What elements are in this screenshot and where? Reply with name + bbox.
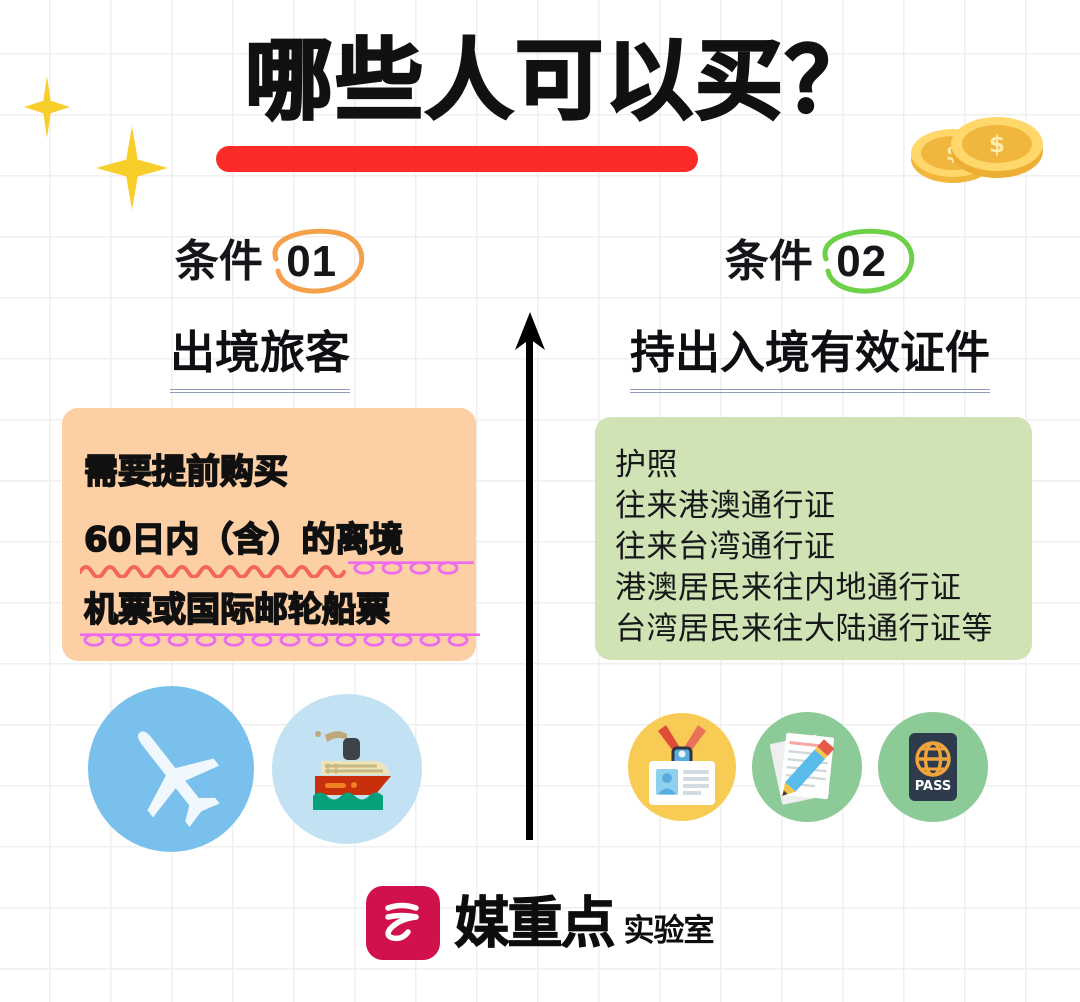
sparkle-icon bbox=[96, 126, 168, 210]
purple-loop-underline bbox=[348, 560, 474, 576]
condition-number: 01 bbox=[278, 237, 345, 286]
brand-name: 媒重点 bbox=[454, 896, 613, 951]
cruise-ship-icon bbox=[272, 694, 422, 844]
condition-heading-text: 出境旅客 bbox=[170, 316, 350, 393]
condition-heading-01: 出境旅客 bbox=[0, 316, 520, 393]
page-title: 哪些人可以买？ bbox=[205, 36, 875, 126]
condition-label-01: 条件 01 bbox=[0, 232, 520, 296]
icon-row-02: PASS bbox=[628, 712, 988, 822]
box-line: 机票或国际邮轮船票 bbox=[84, 582, 390, 631]
condition-label-02: 条件 02 bbox=[540, 232, 1080, 296]
passport-icon: PASS bbox=[878, 712, 988, 822]
up-arrow-divider bbox=[512, 312, 548, 840]
logo-mark-icon bbox=[366, 886, 440, 960]
condition-column-02: 条件 02 持出入境有效证件 bbox=[540, 232, 1080, 393]
poster-canvas: $ $ 哪些人可以买？ 条件 01 出境旅客 需要提前购买 60日内（含）的离境… bbox=[0, 0, 1080, 1002]
footer-logo: 媒重点 实验室 bbox=[0, 886, 1080, 960]
icon-row-01 bbox=[88, 686, 422, 852]
condition-number-text: 01 bbox=[286, 237, 337, 286]
condition-box-02: 护照 往来港澳通行证 往来台湾通行证 港澳居民来往内地通行证 台湾居民来往大陆通… bbox=[595, 417, 1032, 660]
box-line: 需要提前购买 bbox=[84, 444, 288, 493]
condition-heading-text: 持出入境有效证件 bbox=[630, 316, 990, 393]
brand-suffix: 实验室 bbox=[624, 916, 714, 951]
document-item: 护照 bbox=[615, 439, 678, 484]
id-badge-icon bbox=[628, 713, 736, 821]
purple-loop-underline bbox=[80, 632, 480, 648]
brand-wordmark: 媒重点 实验室 bbox=[454, 896, 713, 951]
document-item: 往来港澳通行证 bbox=[615, 480, 836, 525]
documents-pencil-icon bbox=[752, 712, 862, 822]
airplane-icon bbox=[88, 686, 254, 852]
document-item: 港澳居民来往内地通行证 bbox=[615, 562, 962, 607]
condition-number: 02 bbox=[828, 237, 895, 286]
document-item: 台湾居民来往大陆通行证等 bbox=[615, 603, 993, 648]
condition-heading-02: 持出入境有效证件 bbox=[540, 316, 1080, 393]
title-underline-bar bbox=[216, 146, 698, 172]
title-block: 哪些人可以买？ bbox=[0, 36, 1080, 126]
svg-text:$: $ bbox=[989, 132, 1005, 158]
condition-box-01: 需要提前购买 60日内（含）的离境 机票或国际邮轮船票 bbox=[62, 408, 476, 661]
box-line: 60日内（含）的离境 bbox=[84, 512, 403, 561]
condition-column-01: 条件 01 出境旅客 bbox=[0, 232, 520, 393]
red-wavy-underline bbox=[80, 562, 348, 578]
condition-number-text: 02 bbox=[836, 237, 887, 286]
passport-label: PASS bbox=[915, 779, 952, 794]
condition-label-text: 条件 bbox=[175, 236, 263, 287]
condition-label-text: 条件 bbox=[725, 236, 813, 287]
document-item: 往来台湾通行证 bbox=[615, 521, 836, 566]
